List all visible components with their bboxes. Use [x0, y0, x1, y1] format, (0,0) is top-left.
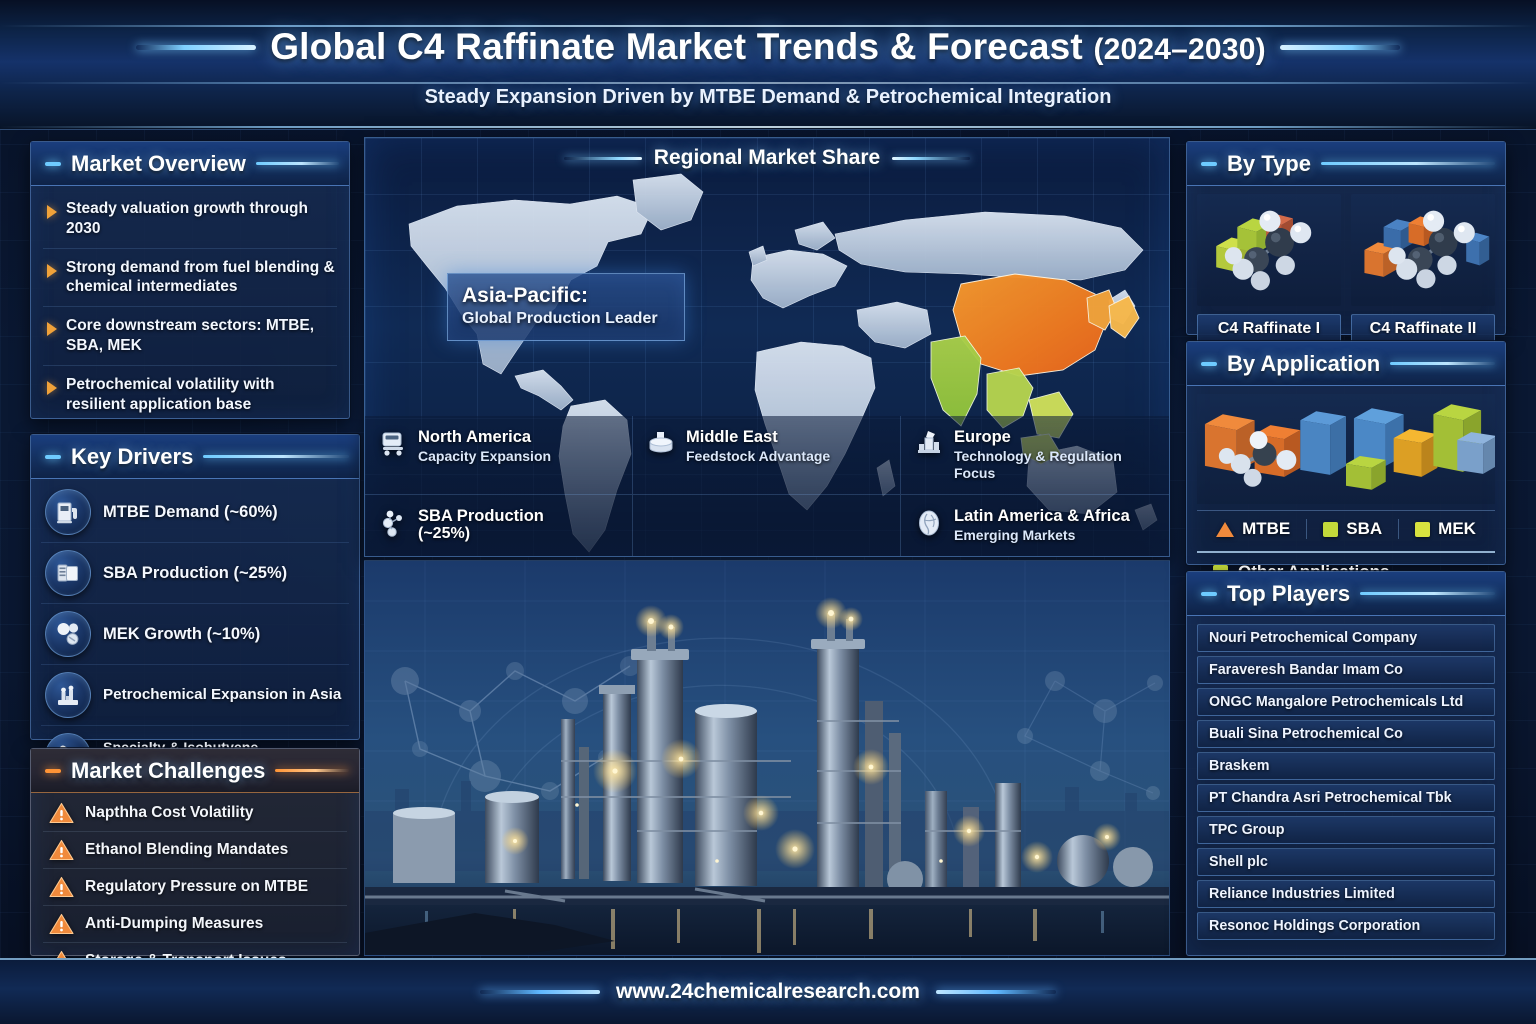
list-item[interactable]: Resonoc Holdings Corporation	[1197, 912, 1495, 940]
list-item-label: Core downstream sectors: MTBE, SBA, MEK	[66, 316, 335, 356]
region-name: SBA Production	[418, 507, 544, 525]
callout-line2: Global Production Leader	[462, 310, 672, 328]
region-desc: Capacity Expansion	[418, 448, 551, 464]
by-type-body: C4 Raffinate I	[1187, 186, 1505, 354]
application-legend-row: MTBE SBA MEK	[1197, 510, 1495, 545]
title-rule-right	[1280, 45, 1400, 50]
region-name: Europe	[954, 428, 1161, 446]
type-card-raffinate-2[interactable]: C4 Raffinate II	[1351, 194, 1495, 344]
list-item[interactable]: Buali Sina Petrochemical Co	[1197, 720, 1495, 748]
legend-label: SBA	[1346, 519, 1382, 539]
page-title-years: (2024–2030)	[1093, 33, 1265, 66]
region-item-latin-america-africa[interactable]: Latin America & Africa Emerging Markets	[901, 494, 1169, 556]
legend-item-mek[interactable]: MEK	[1398, 519, 1492, 539]
legend-swatch-square-icon	[1415, 522, 1430, 537]
list-item[interactable]: Ethanol Blending Mandates	[43, 832, 347, 869]
bullet-arrow-icon	[47, 322, 57, 336]
legend-swatch-square-icon	[1323, 522, 1338, 537]
bullet-arrow-icon	[47, 264, 57, 278]
page-header: Global C4 Raffinate Market Trends & Fore…	[0, 0, 1536, 130]
market-overview-body: Steady valuation growth through 2030 Str…	[31, 186, 349, 428]
page-subtitle: Steady Expansion Driven by MTBE Demand &…	[0, 86, 1536, 109]
by-application-title: By Application	[1227, 351, 1380, 377]
header-rule	[275, 769, 349, 772]
region-desc: Emerging Markets	[954, 527, 1130, 543]
by-type-panel: By Type	[1186, 141, 1506, 335]
map-rule-right	[892, 157, 970, 160]
market-challenges-panel: Market Challenges Napthha Cost Volatilit…	[30, 748, 360, 956]
region-name: Latin America & Africa	[954, 507, 1130, 525]
market-overview-panel: Market Overview Steady valuation growth …	[30, 141, 350, 419]
raffinate-1-art	[1197, 194, 1341, 306]
globe-icon	[915, 508, 945, 538]
list-item[interactable]: MEK Growth (~10%)	[41, 604, 349, 665]
region-name: North America	[418, 428, 551, 446]
refinery-illustration	[365, 561, 1170, 956]
list-item-label: Regulatory Pressure on MTBE	[85, 878, 308, 896]
by-application-panel: By Application	[1186, 341, 1506, 565]
factory-icon	[45, 672, 91, 718]
region-item-north-america[interactable]: North America Capacity Expansion	[365, 416, 633, 494]
warning-icon	[49, 802, 74, 824]
list-item[interactable]: PT Chandra Asri Petrochemical Tbk	[1197, 784, 1495, 812]
type-card-raffinate-1[interactable]: C4 Raffinate I	[1197, 194, 1341, 344]
molecule-cubes-icon	[1351, 194, 1495, 306]
accent-tick-icon	[1201, 362, 1217, 366]
region-name: Middle East	[686, 428, 830, 446]
legend-label: MTBE	[1242, 519, 1290, 539]
list-item-label: Petrochemical Expansion in Asia	[103, 686, 341, 703]
market-overview-title: Market Overview	[71, 151, 246, 177]
key-drivers-title: Key Drivers	[71, 444, 193, 470]
type-label: C4 Raffinate I	[1197, 314, 1341, 344]
warning-icon	[49, 839, 74, 861]
list-item[interactable]: TPC Group	[1197, 816, 1495, 844]
refinery-photo	[364, 560, 1170, 956]
market-challenges-body: Napthha Cost Volatility Ethanol Blending…	[31, 793, 359, 981]
list-item-label: MTBE Demand (~60%)	[103, 503, 278, 522]
footer-url[interactable]: www.24chemicalresearch.com	[616, 980, 920, 1004]
list-item[interactable]: MTBE Demand (~60%)	[41, 482, 349, 543]
page-title: Global C4 Raffinate Market Trends & Fore…	[270, 26, 1266, 68]
list-item[interactable]: Braskem	[1197, 752, 1495, 780]
list-item-label: Steady valuation growth through 2030	[66, 199, 335, 239]
header-rule	[1390, 362, 1495, 365]
list-item[interactable]: Steady valuation growth through 2030	[43, 190, 337, 249]
market-challenges-header: Market Challenges	[31, 749, 359, 793]
list-item-label: Ethanol Blending Mandates	[85, 841, 288, 859]
region-legend-grid: North America Capacity Expansion Middle …	[365, 416, 1169, 556]
header-shine-bottom	[0, 126, 1536, 128]
bullet-arrow-icon	[47, 205, 57, 219]
list-item[interactable]: Regulatory Pressure on MTBE	[43, 869, 347, 906]
legend-item-sba[interactable]: SBA	[1306, 519, 1398, 539]
top-players-title: Top Players	[1227, 581, 1350, 607]
bullet-arrow-icon	[47, 381, 57, 395]
map-title: Regional Market Share	[654, 146, 880, 170]
factory-bars-icon	[915, 429, 945, 457]
callout-line1: Asia-Pacific:	[462, 284, 672, 308]
raffinate-2-art	[1351, 194, 1495, 306]
list-item[interactable]: Shell plc	[1197, 848, 1495, 876]
list-item-label: Napthha Cost Volatility	[85, 804, 254, 822]
top-players-panel: Top Players Nouri Petrochemical Company …	[1186, 571, 1506, 956]
region-item-sba-production[interactable]: SBA Production (~25%)	[365, 494, 633, 556]
molecule-icon	[379, 508, 409, 538]
header-shine-mid	[0, 82, 1536, 84]
page-title-main: Global C4 Raffinate Market Trends & Fore…	[270, 26, 1083, 67]
footer-rule-left	[480, 990, 600, 994]
truck-icon	[379, 429, 409, 457]
asia-pacific-callout[interactable]: Asia-Pacific: Global Production Leader	[447, 273, 685, 341]
regional-market-share-panel: Regional Market Share Asia-Pacific: Glob…	[364, 137, 1170, 557]
fuel-pump-icon	[45, 489, 91, 535]
header-rule	[256, 162, 339, 165]
top-players-list: Nouri Petrochemical Company Faraveresh B…	[1187, 616, 1505, 950]
accent-tick-icon	[45, 455, 61, 459]
list-item[interactable]: SBA Production (~25%)	[41, 543, 349, 604]
header-rule	[1360, 592, 1495, 595]
accent-tick-icon	[1201, 592, 1217, 596]
page-footer: www.24chemicalresearch.com	[0, 958, 1536, 1024]
by-type-header: By Type	[1187, 142, 1505, 186]
market-challenges-title: Market Challenges	[71, 758, 265, 784]
market-overview-header: Market Overview	[31, 142, 349, 186]
key-drivers-header: Key Drivers	[31, 435, 359, 479]
list-item[interactable]: Core downstream sectors: MTBE, SBA, MEK	[43, 307, 337, 366]
list-item[interactable]: Reliance Industries Limited	[1197, 880, 1495, 908]
infographic-root: Global C4 Raffinate Market Trends & Fore…	[0, 0, 1536, 1024]
map-rule-left	[564, 157, 642, 160]
type-label: C4 Raffinate II	[1351, 314, 1495, 344]
list-item[interactable]: Faraveresh Bandar Imam Co	[1197, 656, 1495, 684]
molecules-icon	[45, 611, 91, 657]
warning-icon	[49, 876, 74, 898]
title-rule-left	[136, 45, 256, 50]
list-item[interactable]: ONGC Mangalore Petrochemicals Ltd	[1197, 688, 1495, 716]
header-rule	[203, 455, 349, 458]
list-item[interactable]: Anti-Dumping Measures	[43, 906, 347, 943]
region-desc: (~25%)	[418, 525, 544, 543]
region-grid-spacer	[633, 494, 901, 556]
list-item-label: Petrochemical volatility with resilient …	[66, 375, 335, 415]
region-desc: Feedstock Advantage	[686, 448, 830, 464]
legend-swatch-triangle-icon	[1216, 522, 1234, 537]
list-item[interactable]: Nouri Petrochemical Company	[1197, 624, 1495, 652]
list-item-label: SBA Production (~25%)	[103, 564, 287, 583]
barrels-icon	[45, 550, 91, 596]
key-drivers-panel: Key Drivers MTBE Demand (~60%)	[30, 434, 360, 740]
3d-bar-blocks-icon	[1197, 394, 1495, 504]
accent-tick-icon	[45, 162, 61, 166]
top-players-header: Top Players	[1187, 572, 1505, 616]
molecule-cubes-icon	[1197, 194, 1341, 306]
map-title-row: Regional Market Share	[365, 146, 1169, 170]
list-item-label: MEK Growth (~10%)	[103, 625, 260, 644]
list-item-label: Anti-Dumping Measures	[85, 915, 263, 933]
list-item[interactable]: Strong demand from fuel blending & chemi…	[43, 249, 337, 308]
list-item[interactable]: Petrochemical volatility with resilient …	[43, 366, 337, 424]
accent-tick-icon	[45, 769, 61, 773]
by-type-title: By Type	[1227, 151, 1311, 177]
region-item-middle-east[interactable]: Middle East Feedstock Advantage	[633, 416, 901, 494]
oil-drum-icon	[647, 429, 677, 457]
legend-label: MEK	[1438, 519, 1476, 539]
list-item[interactable]: Napthha Cost Volatility	[43, 795, 347, 832]
list-item-label: Strong demand from fuel blending & chemi…	[66, 258, 335, 298]
region-desc: Technology & Regulation Focus	[954, 448, 1161, 480]
accent-tick-icon	[1201, 162, 1217, 166]
warning-icon	[49, 913, 74, 935]
key-drivers-body: MTBE Demand (~60%) SBA Production (~25%)	[31, 479, 359, 789]
footer-rule-right	[936, 990, 1056, 994]
region-item-europe[interactable]: Europe Technology & Regulation Focus	[901, 416, 1169, 494]
legend-item-mtbe[interactable]: MTBE	[1200, 519, 1306, 539]
list-item[interactable]: Petrochemical Expansion in Asia	[41, 665, 349, 726]
by-application-header: By Application	[1187, 342, 1505, 386]
title-row: Global C4 Raffinate Market Trends & Fore…	[0, 26, 1536, 68]
header-rule	[1321, 162, 1495, 165]
application-chart-art	[1197, 394, 1495, 504]
